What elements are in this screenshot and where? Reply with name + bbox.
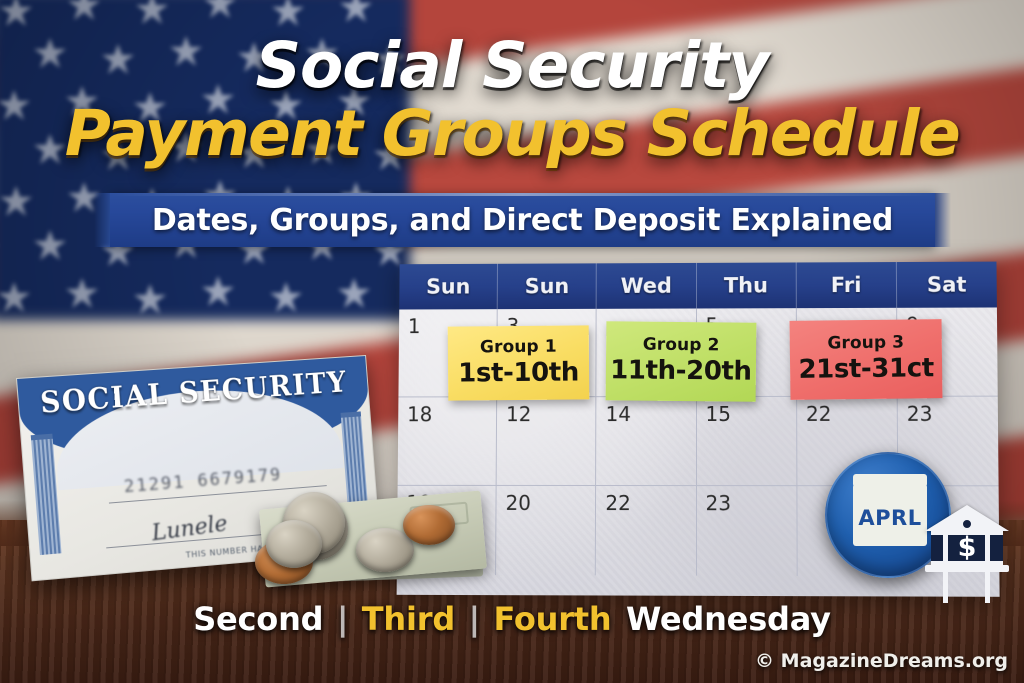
subtitle-bar: Dates, Groups, and Direct Deposit Explai… [110, 193, 935, 247]
calendar-day-number: 14 [606, 402, 631, 426]
calendar-day-cell[interactable]: 23 [697, 486, 798, 576]
calendar-day-cell[interactable]: 12 [497, 397, 597, 486]
calendar-day-header: Wed [597, 263, 697, 309]
sticky-note-range: 11th-20th [610, 355, 752, 386]
card-pillar-left-icon [31, 434, 62, 555]
footer-second: Second [193, 600, 323, 638]
subtitle-text: Dates, Groups, and Direct Deposit Explai… [152, 203, 893, 238]
footer-banner: Second | Third | Fourth Wednesday [0, 600, 1024, 638]
calendar-icon-ring [861, 474, 874, 489]
calendar-header-row: Sun Sun Wed Thu Fri Sat [399, 262, 997, 310]
sticky-note-title: Group 1 [480, 336, 557, 357]
sticky-note-title: Group 3 [827, 333, 904, 354]
calendar-day-cell[interactable]: 22 [596, 486, 696, 576]
calendar-day-header: Fri [796, 262, 897, 308]
sticky-note-range: 1st-10th [458, 357, 579, 388]
bank-icon: $ [925, 505, 1009, 577]
calendar-day-cell[interactable]: 20 [496, 486, 596, 575]
calendar-day-cell[interactable]: 14 [596, 397, 696, 486]
sticky-note-group-2[interactable]: Group 2 11th-20th [606, 321, 757, 402]
calendar-day-number: 22 [806, 402, 832, 426]
sticky-note-title: Group 2 [643, 335, 720, 356]
title-line-2: Payment Groups Schedule [0, 98, 1024, 170]
calendar-day-cell[interactable]: 18 [398, 397, 498, 486]
footer-third: Third [362, 600, 455, 638]
footer-wednesday: Wednesday [616, 600, 831, 638]
calendar-day-number: 12 [506, 402, 531, 426]
calendar-day-number: 1 [408, 314, 421, 338]
subtitle-bar-highlight [110, 193, 935, 196]
calendar-day-header: Sun [498, 263, 597, 309]
calendar-day-header: Thu [697, 262, 797, 308]
bank-pediment-dot [960, 517, 974, 531]
coin [266, 520, 322, 568]
poster-headline: Social Security Payment Groups Schedule [0, 34, 1024, 170]
calendar-icon-ring [899, 474, 912, 489]
calendar-day-number: 18 [407, 402, 432, 426]
footer-fourth: Fourth [493, 600, 611, 638]
calendar-day-number: 23 [706, 491, 732, 515]
coin [403, 505, 455, 545]
badge-month-label: APRL [853, 506, 927, 530]
calendar-day-header: Sun [399, 264, 498, 310]
sticky-note-group-1[interactable]: Group 1 1st-10th [448, 325, 590, 400]
bank-dollar-symbol: $ [925, 531, 1009, 565]
footer-separator: | [328, 600, 358, 638]
credit-watermark: © MagazineDreams.org [755, 650, 1008, 672]
calendar-day-number: 22 [605, 491, 630, 515]
sticky-note-range: 21st-31ct [798, 353, 934, 385]
title-line-1: Social Security [0, 34, 1024, 98]
calendar-day-number: 23 [907, 402, 933, 426]
card-signature: Lunele [150, 511, 229, 546]
footer-separator: | [460, 600, 490, 638]
bank-base [925, 565, 1009, 572]
calendar-day-header: Sat [897, 262, 997, 308]
calendar-day-number: 15 [706, 402, 731, 426]
sticky-note-group-3[interactable]: Group 3 21st-31ct [790, 319, 943, 400]
poster-canvas: Sun Sun Wed Thu Fri Sat 1 3 5 9 18 12 14… [0, 0, 1024, 683]
calendar-day-number: 20 [506, 491, 531, 515]
calendar-icon: APRL [853, 484, 927, 546]
calendar-day-cell[interactable]: 15 [697, 397, 798, 486]
